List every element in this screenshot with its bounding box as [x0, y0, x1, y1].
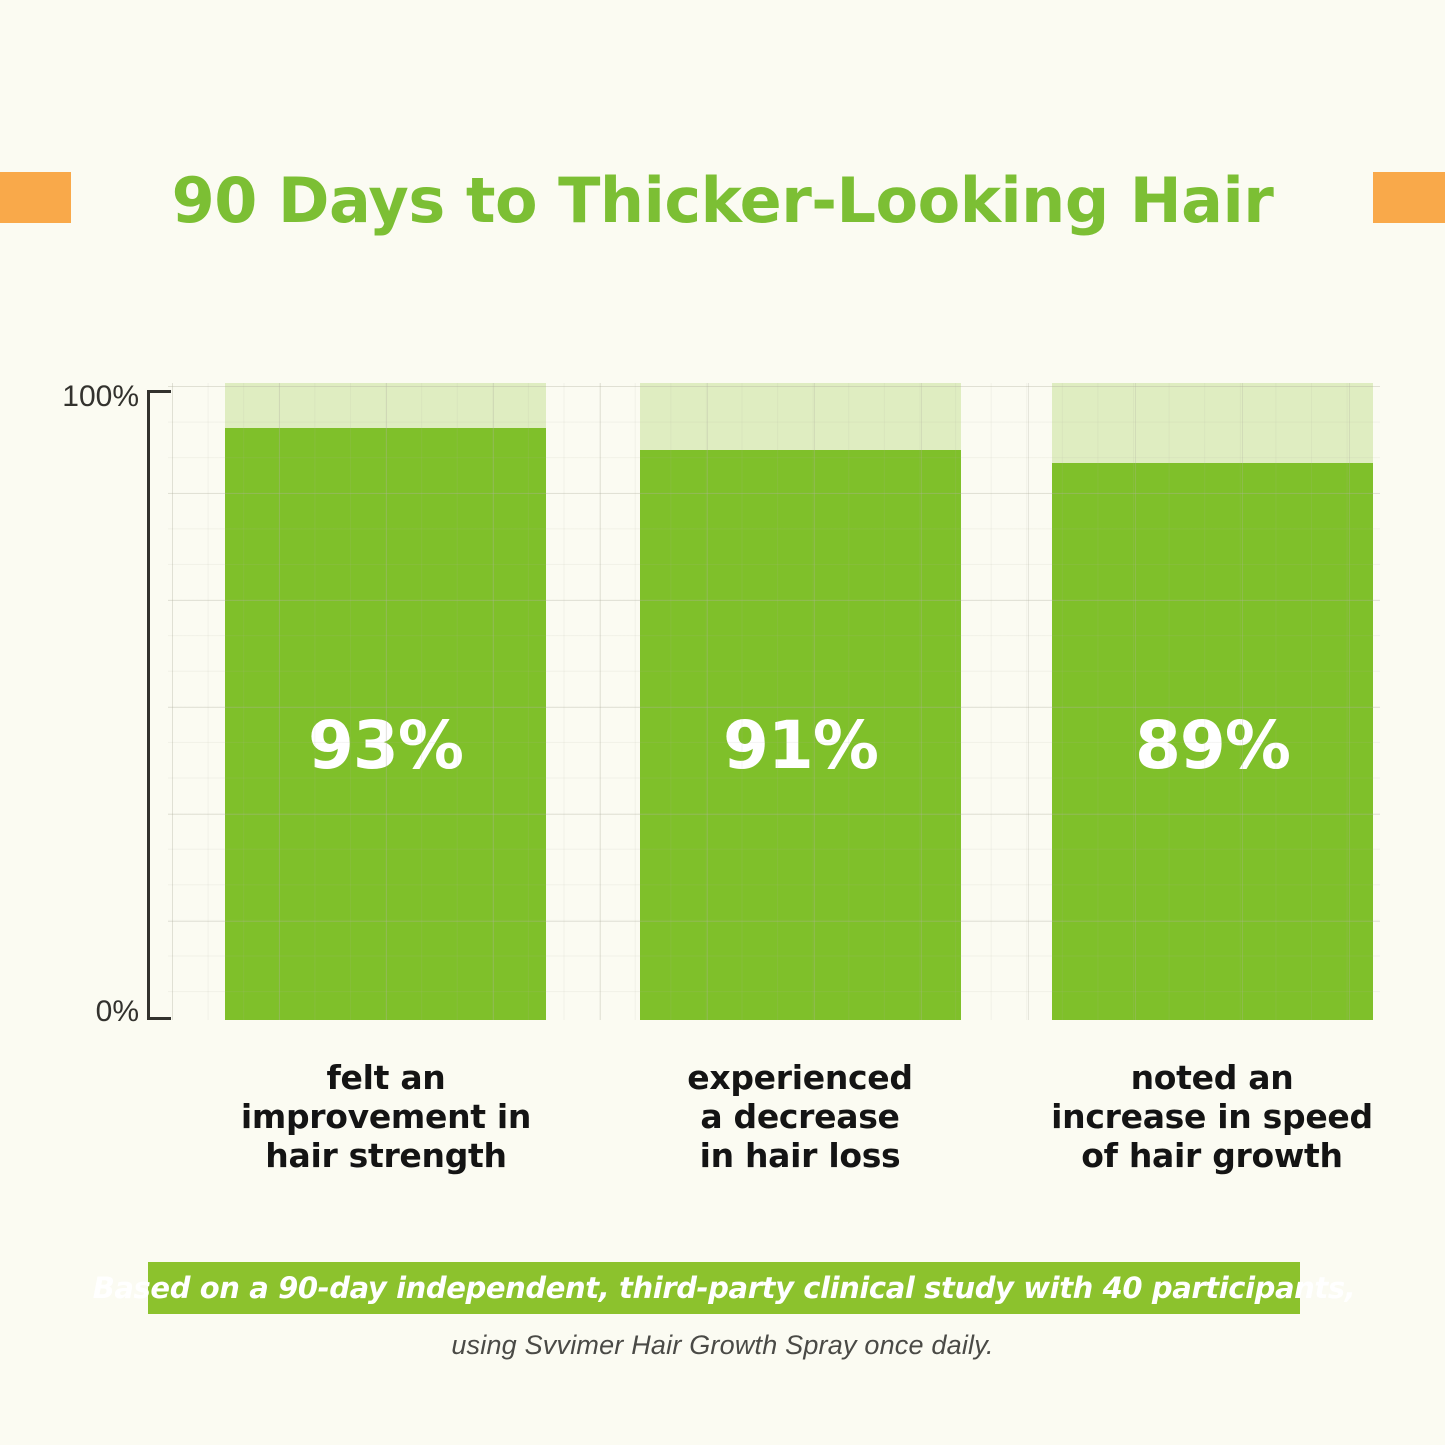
category-label-2-line3: in hair loss	[600, 1136, 1000, 1175]
category-label-1-line3: hair strength	[186, 1136, 586, 1175]
page-title: 90 Days to Thicker-Looking Hair	[0, 155, 1445, 247]
y-axis-tick-100: 100%	[19, 382, 139, 412]
category-label-2-line2: a decrease	[600, 1097, 1000, 1136]
plot-area: 93% 91% 89%	[168, 383, 1380, 1020]
study-disclaimer-banner: Based on a 90-day independent, third-par…	[148, 1262, 1300, 1314]
bar-value-label-2: 91%	[640, 713, 961, 779]
bar-group-3: 89%	[1052, 383, 1373, 1020]
category-label-3-line3: of hair growth	[1012, 1136, 1412, 1175]
bar-group-1: 93%	[225, 383, 546, 1020]
category-label-1-line2: improvement in	[186, 1097, 586, 1136]
category-label-3: noted an increase in speed of hair growt…	[1012, 1058, 1412, 1175]
bar-group-2: 91%	[640, 383, 961, 1020]
category-label-2: experienced a decrease in hair loss	[600, 1058, 1000, 1175]
category-label-1-line1: felt an	[186, 1058, 586, 1097]
study-disclaimer-text: Based on a 90-day independent, third-par…	[93, 1271, 1356, 1305]
category-label-1: felt an improvement in hair strength	[186, 1058, 586, 1175]
category-label-3-line2: increase in speed	[1012, 1097, 1412, 1136]
category-label-3-line1: noted an	[1012, 1058, 1412, 1097]
product-usage-note: using Svvimer Hair Growth Spray once dai…	[0, 1330, 1445, 1361]
bar-value-label-1: 93%	[225, 713, 546, 779]
category-label-2-line1: experienced	[600, 1058, 1000, 1097]
y-axis-tick-0: 0%	[19, 997, 139, 1027]
infographic-canvas: 90 Days to Thicker-Looking Hair 100% 0% …	[0, 0, 1445, 1445]
bar-value-label-3: 89%	[1052, 713, 1373, 779]
